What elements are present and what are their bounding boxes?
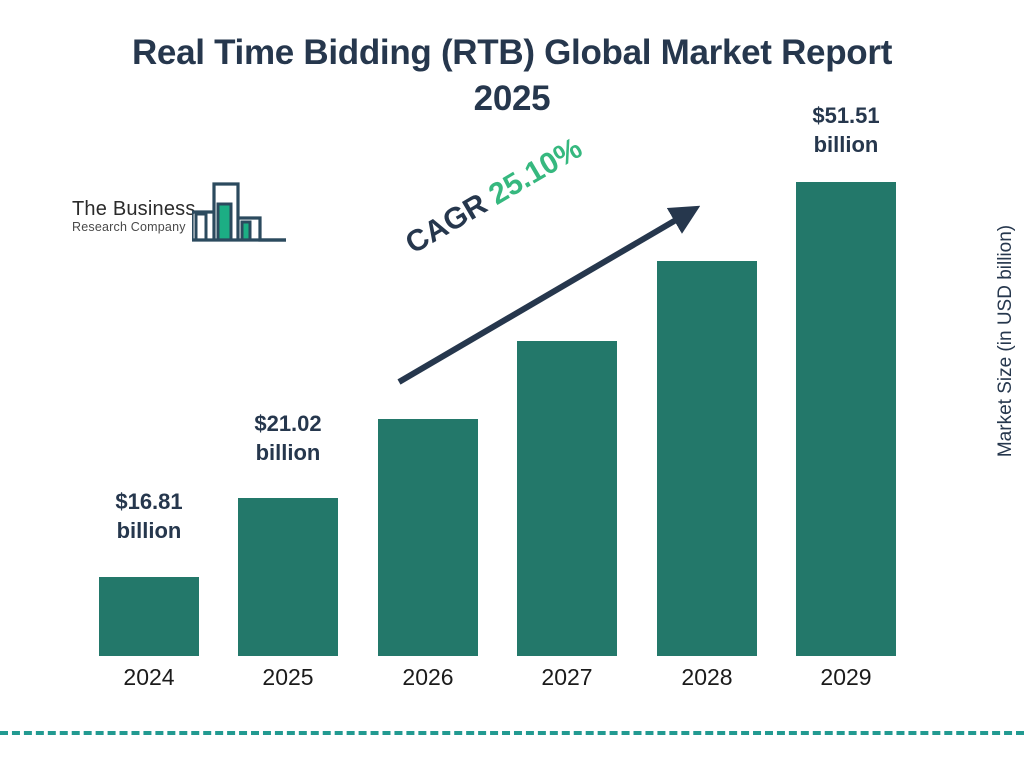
growth-arrow-icon: [0, 0, 1024, 768]
bar-chart-plot-area: $16.81 billion $21.02 billion $51.51 bil…: [0, 0, 1024, 768]
y-axis-title: Market Size (in USD billion): [995, 181, 1017, 501]
chart-canvas: Real Time Bidding (RTB) Global Market Re…: [0, 0, 1024, 768]
footer-divider: [0, 731, 1024, 735]
